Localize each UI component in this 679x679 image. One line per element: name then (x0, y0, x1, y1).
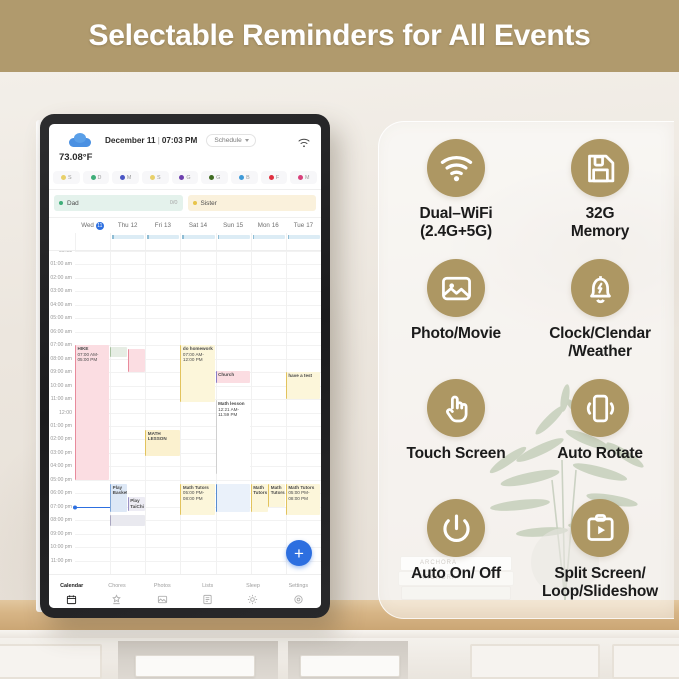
member-color-dot (298, 175, 303, 180)
view-selector-dropdown[interactable]: Schedule (206, 134, 256, 147)
time-label: 09:00 pm (50, 531, 72, 537)
all-day-cell[interactable] (286, 233, 321, 250)
day-label: Sat (189, 222, 198, 229)
wifi-icon (298, 135, 310, 145)
feature-label: Auto Rotate (557, 445, 643, 463)
member-color-dot (179, 175, 184, 180)
nav-item-calendar[interactable]: Calendar (49, 578, 94, 608)
feature-item: Photo/Movie (384, 253, 528, 373)
time-label: 01:00 am (50, 261, 72, 267)
time-label: 07:03 PM (162, 136, 198, 145)
calendar-event[interactable]: HIKE07:00 AM-05:00 PM (75, 345, 109, 480)
tablet-screen: December 11|07:03 PM Schedule 73 (49, 124, 321, 608)
member-color-dot (150, 175, 155, 180)
all-day-tick (218, 235, 220, 239)
week-day-sat[interactable]: Sat14 (180, 222, 215, 229)
calendar-event[interactable]: MATH LESSON (145, 430, 179, 456)
grid-day-line (251, 251, 252, 574)
nav-label: Sleep (246, 583, 260, 589)
time-axis: 00:0001:00 am02:00 am03:00 am04:00 am05:… (49, 251, 75, 574)
grid-hour-line (75, 561, 321, 562)
feature-label-line: /Weather (549, 343, 651, 361)
member-chip[interactable]: M (290, 171, 317, 184)
events-area[interactable]: HIKE07:00 AM-05:00 PMPlay BasketballPlay… (75, 251, 321, 574)
person-row[interactable]: Dad0/0 (54, 195, 183, 211)
add-event-button[interactable]: + (286, 540, 312, 566)
gear-icon (293, 592, 304, 603)
time-label: 02:00 pm (50, 436, 72, 442)
list-icon (202, 592, 213, 603)
calendar-event[interactable]: Play Basketball (110, 484, 127, 512)
time-label: 11:00 am (51, 396, 72, 402)
all-day-tick (182, 235, 184, 239)
nav-label: Chores (108, 583, 125, 589)
feature-label: Photo/Movie (411, 325, 501, 343)
screen-status-bar: December 11|07:03 PM Schedule 73 (49, 124, 321, 168)
person-row-list: Dad0/0Sister (49, 190, 321, 218)
member-chip[interactable]: G (201, 171, 228, 184)
person-name: Dad (67, 200, 79, 207)
member-initial: M (305, 175, 310, 181)
nav-label: Calendar (60, 583, 83, 589)
member-chip[interactable]: S (53, 171, 80, 184)
rotate-device-icon (571, 379, 629, 437)
date-time: December 11|07:03 PM (105, 136, 197, 145)
time-label: 06:00 am (50, 329, 72, 335)
feature-label-line: Auto Rotate (557, 445, 643, 463)
feature-label: 32GMemory (571, 205, 629, 240)
member-initial: G (186, 175, 190, 181)
photo-icon (157, 592, 168, 603)
tablet-device: December 11|07:03 PM Schedule 73 (40, 114, 330, 618)
day-number-today: 11 (96, 222, 104, 230)
grid-hour-line (75, 480, 321, 481)
calendar-grid[interactable]: 00:0001:00 am02:00 am03:00 am04:00 am05:… (49, 251, 321, 574)
cabinet-door-far-right (612, 644, 679, 679)
feature-label-line: Dual–WiFi (420, 205, 493, 223)
event-title: Church (218, 372, 248, 377)
feature-label-line: Clock/Clendar (549, 325, 651, 343)
time-label: 07:00 am (50, 342, 72, 348)
calendar-event[interactable]: Church (216, 371, 250, 383)
time-label: 00:00 (59, 251, 72, 254)
grid-hour-line (75, 547, 321, 548)
feature-item: Auto On/ Off (384, 493, 528, 613)
time-label: 07:00 pm (50, 504, 72, 510)
member-color-dot (61, 175, 66, 180)
day-label: Sun (223, 222, 234, 229)
time-label: 03:00 am (50, 288, 72, 294)
event-time: 05:00 PM-08:00 PM (183, 490, 204, 500)
grid-hour-line (75, 466, 321, 467)
chevron-down-icon (245, 139, 249, 142)
member-initial: G (216, 175, 220, 181)
time-label: 08:00 pm (50, 517, 72, 523)
grid-hour-line (75, 332, 321, 333)
calendar-event[interactable]: have a test (286, 372, 320, 399)
event-time: 12:21 AM-11:59 PM (218, 407, 239, 417)
all-day-tick (288, 235, 290, 239)
member-chip-row: SDMSGGBFM (49, 168, 321, 190)
week-day-fri[interactable]: Fri13 (145, 222, 180, 229)
day-number: 13 (164, 222, 171, 229)
feature-label-line: Touch Screen (407, 445, 506, 463)
banner-title: Selectable Reminders for All Events (89, 19, 591, 53)
all-day-cell[interactable] (75, 233, 110, 250)
day-label: Thu (118, 222, 129, 229)
time-label: 08:00 am (50, 356, 72, 362)
time-label: 05:00 pm (50, 477, 72, 483)
member-color-dot (91, 175, 96, 180)
temperature-label: 73.08°F (59, 152, 313, 163)
cabinet-door-right (470, 644, 600, 679)
all-day-cell[interactable] (110, 233, 145, 250)
member-chip[interactable]: S (142, 171, 169, 184)
member-color-dot (239, 175, 244, 180)
calendar-event[interactable]: Math Tutors (251, 484, 268, 512)
feature-label: Split Screen/Loop/Slideshow (542, 565, 658, 600)
event-time: 07:00 AM-12:00 PM (183, 352, 204, 362)
person-name: Sister (201, 200, 217, 207)
feature-label-line: Loop/Slideshow (542, 583, 658, 601)
day-label: Wed (81, 222, 94, 229)
person-color-dot (59, 201, 63, 205)
floppy-disk-icon (571, 139, 629, 197)
all-day-cell[interactable] (251, 233, 286, 250)
cloud-icon (69, 133, 91, 147)
alarm-bell-icon (571, 259, 629, 317)
member-chip[interactable]: D (83, 171, 110, 184)
member-initial: S (68, 175, 72, 181)
view-selector-label: Schedule (214, 137, 242, 144)
member-color-dot (120, 175, 125, 180)
current-time-dot (73, 506, 77, 510)
banner: Selectable Reminders for All Events (0, 0, 679, 72)
feature-label: Dual–WiFi(2.4G+5G) (420, 205, 493, 240)
all-day-row (49, 233, 321, 251)
nav-item-lists[interactable]: Lists (185, 578, 230, 608)
nav-label: Lists (202, 583, 213, 589)
time-label: 10:00 pm (50, 544, 72, 550)
cabinet-door-left (0, 644, 102, 679)
grid-hour-line (75, 453, 321, 454)
feature-item: Dual–WiFi(2.4G+5G) (384, 133, 528, 253)
star-badge-icon (111, 592, 122, 603)
bottom-nav[interactable]: CalendarChoresPhotosListsSleepSettings (49, 574, 321, 608)
grid-hour-line (75, 426, 321, 427)
time-label: 10:00 am (50, 383, 72, 389)
week-day-mon[interactable]: Mon16 (251, 222, 286, 229)
event-title: Math Tutors (271, 485, 284, 496)
cabinet-box (300, 655, 400, 677)
all-day-cell[interactable] (145, 233, 180, 250)
time-label: 05:00 am (50, 315, 72, 321)
grid-hour-line (75, 264, 321, 265)
event-title: have a test (288, 373, 318, 378)
all-day-bar (182, 235, 214, 239)
feature-label-line: Split Screen/ (542, 565, 658, 583)
time-label: 03:00 pm (50, 450, 72, 456)
event-title: Play Basketball (113, 485, 126, 496)
feature-item: Auto Rotate (528, 373, 672, 493)
event-time: 05:00 PM-08:00 PM (288, 490, 309, 500)
event-title: Play TaiChi (130, 498, 143, 509)
time-label: 06:00 pm (50, 490, 72, 496)
feature-item: 32GMemory (528, 133, 672, 253)
time-label: 04:00 pm (50, 463, 72, 469)
grid-hour-line (75, 413, 321, 414)
all-day-bar (147, 235, 179, 239)
member-chip[interactable]: F (261, 171, 288, 184)
feature-label-line: Memory (571, 223, 629, 241)
all-day-bar (112, 235, 144, 239)
feature-item: Clock/Clendar/Weather (528, 253, 672, 373)
feature-label-line: Auto On/ Off (411, 565, 501, 583)
feature-label: Touch Screen (407, 445, 506, 463)
calendar-event[interactable]: Math Tutors05:00 PM-08:00 PM (180, 484, 214, 515)
time-label: 09:00 am (50, 369, 72, 375)
calendar-event[interactable]: do homework07:00 AM-12:00 PM (180, 345, 214, 402)
grid-day-line (110, 251, 111, 574)
member-initial: B (246, 175, 250, 181)
all-day-tick (147, 235, 149, 239)
event-title: Math Tutors (253, 485, 266, 496)
all-day-tick (112, 235, 114, 239)
datetime-separator: | (158, 136, 160, 145)
feature-label: Auto On/ Off (411, 565, 501, 583)
member-color-dot (269, 175, 274, 180)
person-count: 0/0 (170, 200, 178, 206)
day-label: Fri (155, 222, 162, 229)
week-day-header: Wed11Thu12Fri13Sat14Sun15Mon16Tue17 (49, 218, 321, 233)
member-initial: S (157, 175, 161, 181)
feature-label-line: (2.4G+5G) (420, 223, 493, 241)
time-label: 01:00 pm (50, 423, 72, 429)
calendar-icon (66, 592, 77, 603)
grid-hour-line (75, 439, 321, 440)
week-day-tue[interactable]: Tue17 (286, 222, 321, 229)
person-row[interactable]: Sister (188, 195, 317, 211)
grid-hour-line (75, 305, 321, 306)
feature-list: Dual–WiFi(2.4G+5G)32GMemoryPhoto/MovieCl… (378, 121, 678, 621)
cabinet-box (135, 655, 255, 677)
member-initial: F (276, 175, 279, 181)
day-number: 17 (306, 222, 313, 229)
week-day-wed[interactable]: Wed11 (75, 222, 110, 230)
person-color-dot (193, 201, 197, 205)
date-label: December 11 (105, 136, 156, 145)
feature-label-line: Photo/Movie (411, 325, 501, 343)
calendar-event[interactable]: Math lesson12:21 AM-11:59 PM (216, 400, 250, 474)
time-label: 04:00 am (50, 302, 72, 308)
calendar-event[interactable] (110, 347, 127, 358)
nav-item-chores[interactable]: Chores (94, 578, 139, 608)
nav-item-photos[interactable]: Photos (140, 578, 185, 608)
all-day-cell[interactable] (180, 233, 215, 250)
event-title: MATH LESSON (148, 431, 178, 442)
event-time: 07:00 AM-05:00 PM (78, 352, 99, 362)
day-label: Mon (258, 222, 270, 229)
week-day-sun[interactable]: Sun15 (216, 222, 251, 229)
slideshow-icon (571, 499, 629, 557)
nav-label: Photos (154, 583, 171, 589)
grid-day-line (145, 251, 146, 574)
member-chip[interactable]: G (172, 171, 199, 184)
calendar-event[interactable]: Play TaiChi (128, 497, 145, 510)
all-day-cell[interactable] (216, 233, 251, 250)
grid-hour-line (75, 291, 321, 292)
week-day-thu[interactable]: Thu12 (110, 222, 145, 229)
day-number: 12 (131, 222, 138, 229)
time-label: 11:00 pm (51, 558, 72, 564)
nav-item-sleep[interactable]: Sleep (230, 578, 275, 608)
time-label: 02:00 am (50, 275, 72, 281)
grid-hour-line (75, 534, 321, 535)
member-color-dot (209, 175, 214, 180)
nav-label: Settings (289, 583, 308, 589)
touch-hand-icon (427, 379, 485, 437)
time-label: 12:00 (59, 410, 72, 416)
all-day-bar (218, 235, 250, 239)
feature-label-line: 32G (571, 205, 629, 223)
calendar-event[interactable]: Math Tutors (268, 484, 285, 507)
all-day-tick (253, 235, 255, 239)
member-chip[interactable]: M (112, 171, 139, 184)
feature-label: Clock/Clendar/Weather (549, 325, 651, 360)
grid-day-line (286, 251, 287, 574)
nav-item-settings[interactable]: Settings (276, 578, 321, 608)
calendar-event[interactable]: Math Tutors05:00 PM-08:00 PM (286, 484, 320, 515)
calendar-event[interactable] (128, 349, 145, 372)
calendar-event[interactable] (110, 515, 144, 526)
member-chip[interactable]: B (231, 171, 258, 184)
member-initial: D (98, 175, 102, 181)
grid-hour-line (75, 318, 321, 319)
current-time-line (75, 507, 110, 508)
grid-day-line (180, 251, 181, 574)
feature-item: Split Screen/Loop/Slideshow (528, 493, 672, 613)
grid-hour-line (75, 251, 321, 252)
product-infographic: ARCHORA ARCHORA Selectable Reminders for… (0, 0, 679, 679)
photo-icon (427, 259, 485, 317)
member-initial: M (127, 175, 132, 181)
sun-icon (247, 592, 258, 603)
calendar-event[interactable] (216, 484, 250, 512)
day-number: 15 (236, 222, 243, 229)
feature-item: Touch Screen (384, 373, 528, 493)
day-number: 16 (272, 222, 279, 229)
all-day-bar (253, 235, 285, 239)
wifi-icon (427, 139, 485, 197)
grid-hour-line (75, 278, 321, 279)
all-day-bar (288, 235, 320, 239)
day-label: Tue (294, 222, 304, 229)
power-icon (427, 499, 485, 557)
day-number: 14 (200, 222, 207, 229)
